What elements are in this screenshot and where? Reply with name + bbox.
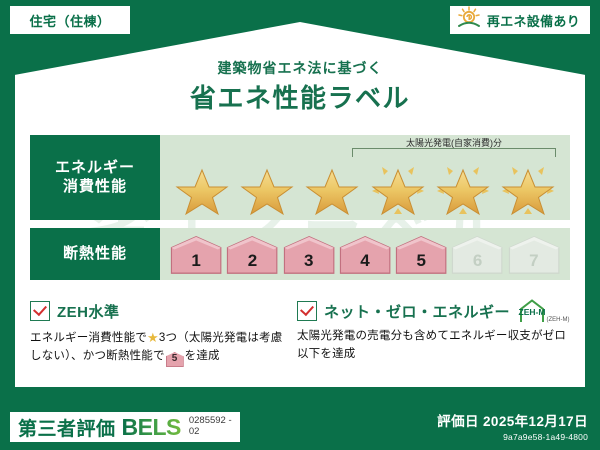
star-icon: [237, 161, 297, 219]
insulation-performance-row: 断熱性能 1 2 3 4 5: [30, 228, 570, 280]
star-icon: [498, 161, 558, 219]
grade-number: 7: [508, 251, 560, 271]
criterion-net-zero-energy: ネット・ゼロ・エネルギー ZEH-M (ZEH-M) 太陽光発電の売電分も含めて…: [297, 300, 570, 378]
criteria-section: ZEH水準 エネルギー消費性能で★3つ（太陽光発電は考慮しない）、かつ断熱性能で…: [30, 300, 570, 378]
inline-star-icon: ★: [147, 330, 159, 345]
energy-performance-label: エネルギー 消費性能: [30, 135, 160, 220]
bels-logo-text: BELS: [122, 414, 181, 441]
energy-label-line1: エネルギー: [55, 159, 135, 178]
svg-text:ZEH-M: ZEH-M: [519, 307, 546, 317]
insulation-grade-3: 3: [283, 235, 335, 275]
housing-type-label: 住宅（住棟）: [29, 11, 110, 30]
star-icon: [302, 161, 362, 219]
insulation-grade-4: 4: [339, 235, 391, 275]
energy-performance-value: 太陽光発電(自家消費)分: [160, 135, 570, 220]
grade-number: 5: [395, 251, 447, 271]
label-subtitle: 建築物省エネ法に基づく: [0, 58, 600, 78]
evaluation-date: 評価日 2025年12月17日: [437, 410, 588, 430]
check-icon-nze: [297, 301, 317, 321]
inline-grade-badge: 5: [166, 352, 184, 367]
nze-criterion-body: 太陽光発電の売電分も含めてエネルギー収支がゼロ以下を達成: [297, 328, 570, 364]
zeh-criterion-title: ZEH水準: [57, 301, 120, 322]
insulation-label-text: 断熱性能: [63, 245, 127, 264]
bracket-line: [352, 148, 556, 157]
nze-criterion-header: ネット・ゼロ・エネルギー ZEH-M (ZEH-M): [297, 300, 570, 322]
insulation-grade-2: 2: [226, 235, 278, 275]
star-rating-group: [168, 161, 562, 219]
star-icon: [368, 161, 428, 219]
insulation-performance-value: 1 2 3 4 5 6 7: [160, 228, 570, 280]
bels-certificate-number: 0285592 - 02: [189, 416, 232, 438]
evaluation-info: 評価日 2025年12月17日 9a7a9e58-1a49-4800: [437, 410, 588, 442]
svg-text:(ZEH-M): (ZEH-M): [547, 317, 570, 323]
criterion-zeh-standard: ZEH水準 エネルギー消費性能で★3つ（太陽光発電は考慮しない）、かつ断熱性能で…: [30, 300, 283, 378]
housing-type-chip: 住宅（住棟）: [10, 6, 130, 34]
zeh-body-post: を達成: [185, 350, 220, 362]
check-icon-zeh: [30, 301, 50, 321]
energy-label-line2: 消費性能: [63, 178, 127, 197]
insulation-grade-1: 1: [170, 235, 222, 275]
sun-over-hill-icon: [456, 6, 482, 35]
grade-number: 2: [226, 251, 278, 271]
grade-number: 1: [170, 251, 222, 271]
star-icon: [433, 161, 493, 219]
energy-label-root: 住宅（住棟） 再エネ設備あり 建築物省エネ法に基づく 省エネ性能ラベル 省エネラ…: [0, 0, 600, 450]
zeh-body-pre: エネルギー消費性能で: [30, 332, 147, 344]
zeh-m-badge-icon: ZEH-M (ZEH-M): [518, 298, 570, 324]
insulation-performance-label: 断熱性能: [30, 228, 160, 280]
star-icon: [172, 161, 232, 219]
evaluation-id: 9a7a9e58-1a49-4800: [437, 432, 588, 442]
grade-number: 4: [339, 251, 391, 271]
insulation-grade-6: 6: [451, 235, 503, 275]
insulation-grade-group: 1 2 3 4 5 6 7: [170, 234, 560, 276]
zeh-criterion-body: エネルギー消費性能で★3つ（太陽光発電は考慮しない）、かつ断熱性能で5を達成: [30, 328, 283, 367]
label-title: 省エネ性能ラベル: [0, 78, 600, 115]
insulation-grade-5: 5: [395, 235, 447, 275]
zeh-criterion-header: ZEH水準: [30, 300, 283, 322]
bels-certification-chip: 第三者評価 BELS 0285592 - 02: [10, 412, 240, 442]
solar-generation-bracket: 太陽光発電(自家消費)分: [352, 137, 556, 157]
renewable-equipment-chip: 再エネ設備あり: [450, 6, 590, 34]
insulation-grade-7: 7: [508, 235, 560, 275]
grade-number: 6: [451, 251, 503, 271]
third-party-eval-label: 第三者評価: [18, 414, 116, 441]
nze-criterion-title: ネット・ゼロ・エネルギー: [324, 301, 510, 322]
energy-performance-row: エネルギー 消費性能 太陽光発電(自家消費)分: [30, 135, 570, 220]
renewable-badge-label: 再エネ設備あり: [487, 11, 580, 30]
grade-number: 3: [283, 251, 335, 271]
